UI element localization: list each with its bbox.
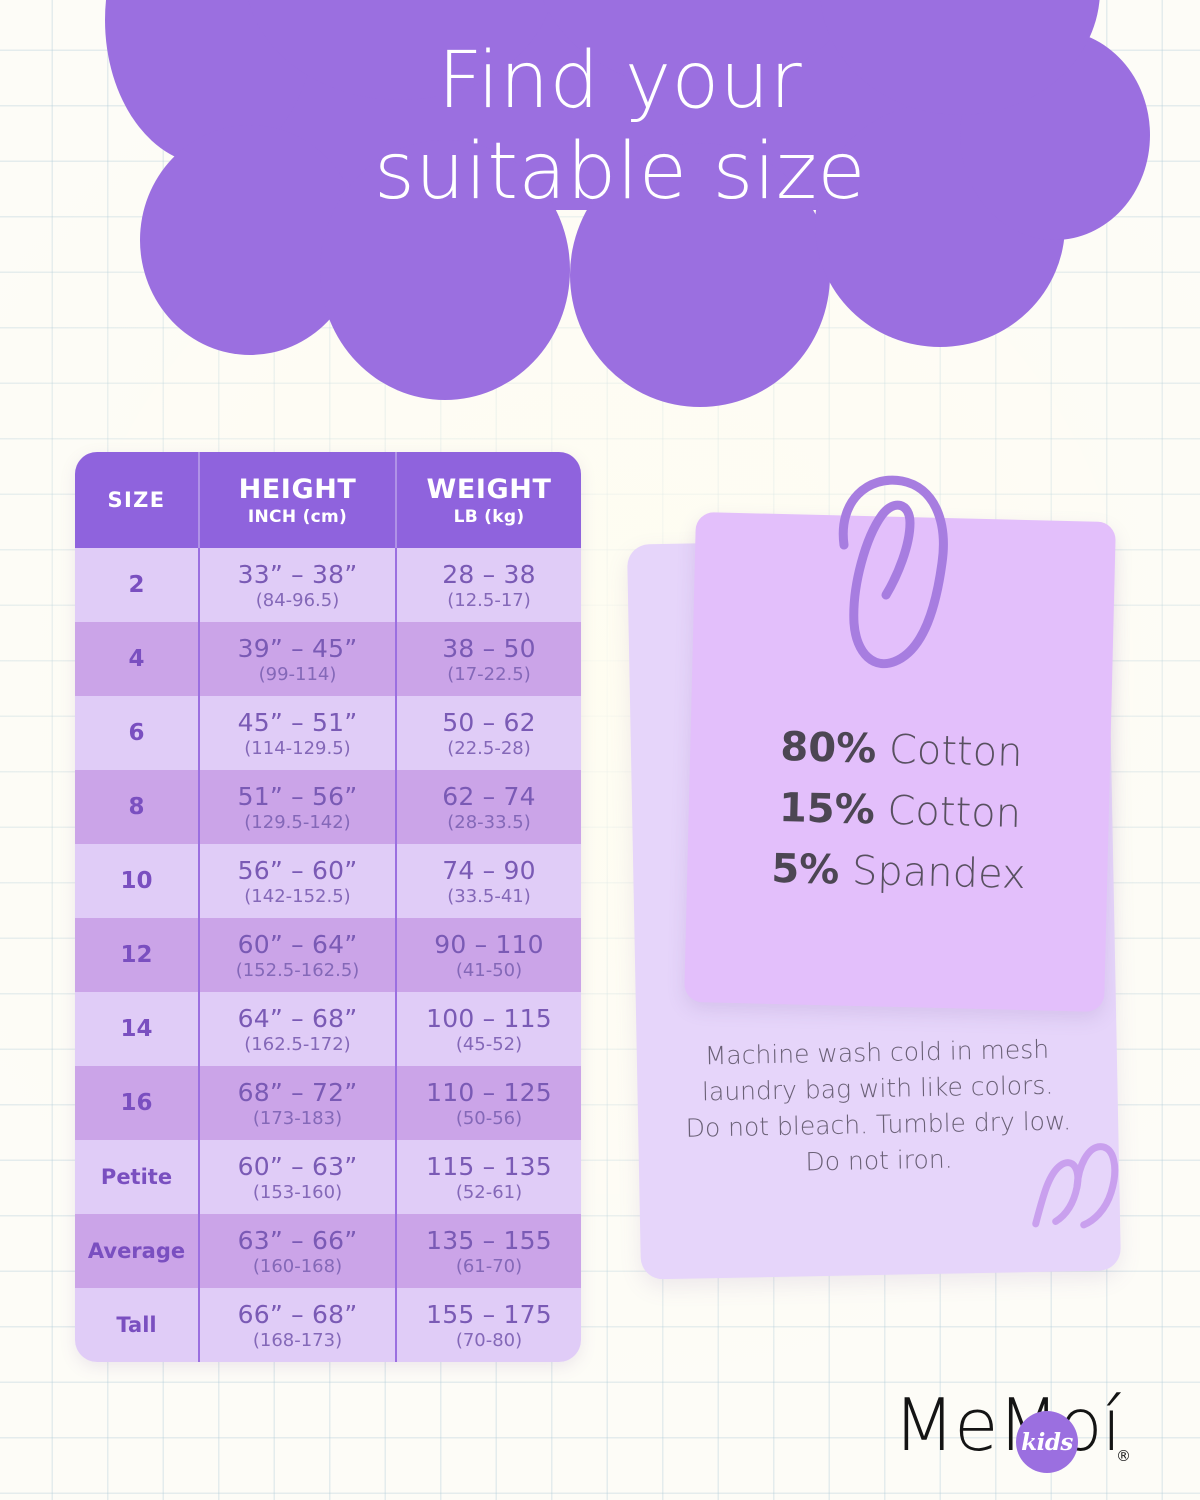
cell-height: 45” – 51”(114-129.5) (198, 696, 395, 770)
composition-line: 80% Cotton (691, 715, 1112, 786)
cell-height: 60” – 64”(152.5-162.5) (198, 918, 395, 992)
cell-weight: 74 – 90(33.5-41) (395, 844, 581, 918)
table-row: Tall66” – 68”(168-173)155 – 175(70-80) (75, 1288, 581, 1362)
column-header-weight: WEIGHT LB (kg) (395, 452, 581, 548)
composition-percent: 15% (778, 785, 875, 833)
kids-badge: kids (1016, 1411, 1078, 1473)
cell-size: Petite (75, 1140, 198, 1214)
fabric-composition: 80% Cotton15% Cotton5% Spandex (688, 715, 1112, 908)
table-row: 1668” – 72”(173-183)110 – 125(50-56) (75, 1066, 581, 1140)
composition-material: Cotton (888, 727, 1023, 776)
table-body: 233” – 38”(84-96.5)28 – 38(12.5-17)439” … (75, 548, 581, 1362)
cell-size: 12 (75, 918, 198, 992)
cell-height: 68” – 72”(173-183) (198, 1066, 395, 1140)
cell-weight: 38 – 50(17-22.5) (395, 622, 581, 696)
cell-size: 14 (75, 992, 198, 1066)
table-row: 1260” – 64”(152.5-162.5)90 – 110(41-50) (75, 918, 581, 992)
cell-height: 56” – 60”(142-152.5) (198, 844, 395, 918)
cell-weight: 50 – 62(22.5-28) (395, 696, 581, 770)
cell-weight: 100 – 115(45-52) (395, 992, 581, 1066)
table-row: 1056” – 60”(142-152.5)74 – 90(33.5-41) (75, 844, 581, 918)
composition-material: Cotton (887, 787, 1022, 836)
cell-size: 6 (75, 696, 198, 770)
composition-line: 15% Cotton (689, 776, 1110, 847)
table-row: 645” – 51”(114-129.5)50 – 62(22.5-28) (75, 696, 581, 770)
table-row: 439” – 45”(99-114)38 – 50(17-22.5) (75, 622, 581, 696)
composition-material: Spandex (851, 847, 1026, 897)
heart-icon (1022, 1134, 1134, 1241)
cell-size: 16 (75, 1066, 198, 1140)
composition-percent: 80% (780, 724, 877, 772)
table-row: 233” – 38”(84-96.5)28 – 38(12.5-17) (75, 548, 581, 622)
cell-size: 8 (75, 770, 198, 844)
cell-weight: 115 – 135(52-61) (395, 1140, 581, 1214)
table-row: 1464” – 68”(162.5-172)100 – 115(45-52) (75, 992, 581, 1066)
cell-size: Tall (75, 1288, 198, 1362)
cell-size: Average (75, 1214, 198, 1288)
brand-wordmark: MeMoí (893, 1389, 1121, 1461)
cell-height: 60” – 63”(153-160) (198, 1140, 395, 1214)
cell-size: 2 (75, 548, 198, 622)
table-row: Petite60” – 63”(153-160)115 – 135(52-61) (75, 1140, 581, 1214)
size-chart-table: SIZE HEIGHT INCH (cm) WEIGHT LB (kg) 233… (75, 452, 581, 1362)
cell-height: 33” – 38”(84-96.5) (198, 548, 395, 622)
paperclip-icon (816, 467, 976, 672)
brand-logo: MeMoí kids ® (893, 1389, 1143, 1485)
product-info-notes: 80% Cotton15% Cotton5% Spandex Machine w… (618, 495, 1138, 1285)
cell-weight: 110 – 125(50-56) (395, 1066, 581, 1140)
composition-line: 5% Spandex (688, 836, 1109, 907)
cell-height: 64” – 68”(162.5-172) (198, 992, 395, 1066)
column-header-size: SIZE (75, 452, 198, 548)
composition-percent: 5% (771, 845, 840, 893)
cell-height: 51” – 56”(129.5-142) (198, 770, 395, 844)
cell-height: 63” – 66”(160-168) (198, 1214, 395, 1288)
header-cloud-shape (100, 0, 1130, 400)
table-row: 851” – 56”(129.5-142)62 – 74(28-33.5) (75, 770, 581, 844)
cell-height: 39” – 45”(99-114) (198, 622, 395, 696)
column-header-height: HEIGHT INCH (cm) (198, 452, 395, 548)
cell-weight: 135 – 155(61-70) (395, 1214, 581, 1288)
kids-badge-label: kids (1021, 1429, 1073, 1456)
table-header-row: SIZE HEIGHT INCH (cm) WEIGHT LB (kg) (75, 452, 581, 548)
cell-size: 10 (75, 844, 198, 918)
cell-weight: 90 – 110(41-50) (395, 918, 581, 992)
cell-weight: 62 – 74(28-33.5) (395, 770, 581, 844)
cell-weight: 28 – 38(12.5-17) (395, 548, 581, 622)
table-row: Average63” – 66”(160-168)135 – 155(61-70… (75, 1214, 581, 1288)
cell-height: 66” – 68”(168-173) (198, 1288, 395, 1362)
cell-weight: 155 – 175(70-80) (395, 1288, 581, 1362)
registered-trademark-icon: ® (1116, 1447, 1131, 1465)
cell-size: 4 (75, 622, 198, 696)
